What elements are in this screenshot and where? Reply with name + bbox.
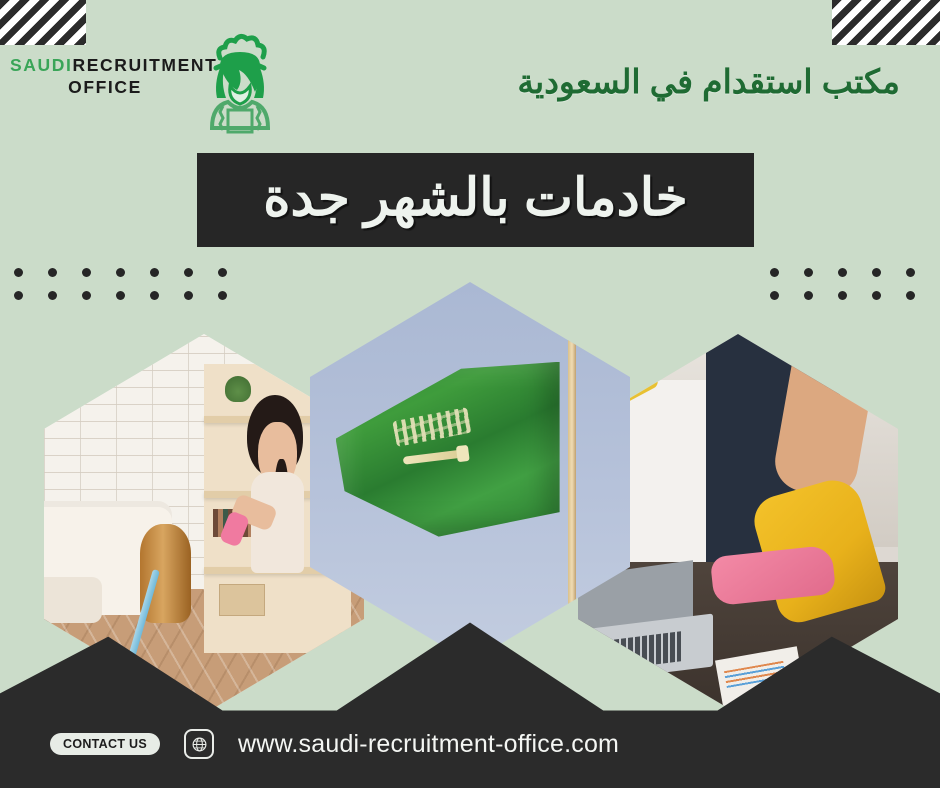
website-url[interactable]: www.saudi-recruitment-office.com: [238, 730, 619, 759]
dot: [804, 291, 813, 300]
dot: [14, 291, 23, 300]
dot-grid-right: [770, 268, 940, 300]
dot: [906, 268, 915, 277]
dot: [906, 291, 915, 300]
dot: [770, 268, 779, 277]
dot: [116, 268, 125, 277]
dot: [218, 291, 227, 300]
globe-icon: [184, 729, 214, 759]
brand-wordmark: SAUDIRECRUITMENT OFFICE: [10, 55, 200, 99]
footer: CONTACT US www.saudi-recruitment-office.…: [0, 700, 940, 788]
diagonal-stripes-top-right: [832, 0, 940, 45]
brand-word-office: OFFICE: [10, 77, 200, 99]
dot: [838, 291, 847, 300]
dot: [184, 291, 193, 300]
dot: [82, 268, 91, 277]
dot: [150, 268, 159, 277]
brand-word-saudi: SAUDI: [10, 55, 72, 75]
dot: [872, 291, 881, 300]
poster-canvas: SAUDIRECRUITMENT OFFICE مكتب استقدام في: [0, 0, 940, 788]
maid-woman-icon: [190, 28, 290, 146]
dot: [184, 268, 193, 277]
page-title: خادمات بالشهر جدة: [263, 172, 688, 224]
diagonal-stripes-top-left: [0, 0, 86, 45]
brand-line-1: SAUDIRECRUITMENT: [10, 55, 200, 77]
dot: [838, 268, 847, 277]
header: SAUDIRECRUITMENT OFFICE مكتب استقدام في: [0, 0, 940, 160]
dot: [48, 291, 57, 300]
dot: [218, 268, 227, 277]
dot: [872, 268, 881, 277]
dot: [804, 268, 813, 277]
dot: [14, 268, 23, 277]
dot-grid-left: [14, 268, 252, 300]
contact-us-button[interactable]: CONTACT US: [50, 733, 160, 755]
dot: [48, 268, 57, 277]
dot: [116, 291, 125, 300]
arabic-subtitle: مكتب استقدام في السعودية: [517, 62, 900, 101]
dot: [82, 291, 91, 300]
dot: [770, 291, 779, 300]
dot: [150, 291, 159, 300]
title-banner: خادمات بالشهر جدة: [197, 153, 754, 247]
